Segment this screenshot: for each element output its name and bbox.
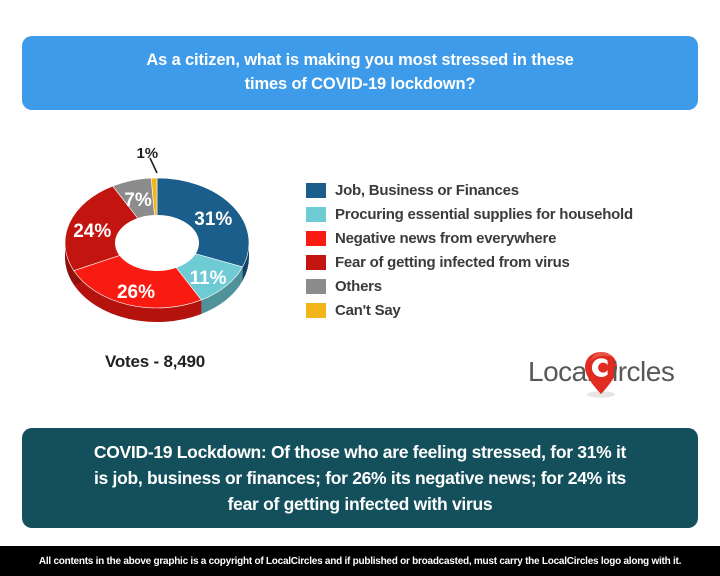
votes-total-label: Votes - 8,490 <box>30 352 280 372</box>
legend-label: Others <box>335 278 382 295</box>
legend-label: Job, Business or Finances <box>335 182 519 199</box>
pie-slice-value-label: 24% <box>73 221 111 242</box>
summary-line-2: is job, business or finances; for 26% it… <box>94 468 626 488</box>
legend-swatch-icon <box>306 207 326 222</box>
copyright-footer: All contents in the above graphic is a c… <box>0 546 720 576</box>
localcircles-logo: Local ircles <box>528 352 700 400</box>
pie-chart: 31%11%26%24%7%1% <box>30 140 290 340</box>
legend-row: Can't Say <box>306 298 633 322</box>
legend-swatch-icon <box>306 303 326 318</box>
question-text: As a citizen, what is making you most st… <box>146 49 573 97</box>
summary-banner: COVID-19 Lockdown: Of those who are feel… <box>22 428 698 528</box>
legend-row: Negative news from everywhere <box>306 226 633 250</box>
legend-label: Fear of getting infected from virus <box>335 254 570 271</box>
legend-swatch-icon <box>306 279 326 294</box>
pie-slice-value-label: 26% <box>117 282 155 303</box>
chart-legend: Job, Business or FinancesProcuring essen… <box>306 178 633 322</box>
legend-row: Job, Business or Finances <box>306 178 633 202</box>
pie-slice-value-label: 31% <box>194 209 232 230</box>
legend-swatch-icon <box>306 183 326 198</box>
summary-line-3: fear of getting infected with virus <box>228 494 493 514</box>
legend-label: Negative news from everywhere <box>335 230 556 247</box>
legend-swatch-icon <box>306 255 326 270</box>
legend-label: Can't Say <box>335 302 401 319</box>
legend-label: Procuring essential supplies for househo… <box>335 206 633 223</box>
copyright-text: All contents in the above graphic is a c… <box>39 556 681 567</box>
donut-hole <box>115 215 199 271</box>
pie-slice-value-label: 11% <box>190 268 227 289</box>
question-line-2: times of COVID-19 lockdown? <box>245 75 476 93</box>
pie-chart-svg: 31%11%26%24%7%1% <box>30 140 290 340</box>
summary-line-1: COVID-19 Lockdown: Of those who are feel… <box>94 442 626 462</box>
logo-text-right: ircles <box>612 356 674 388</box>
question-banner: As a citizen, what is making you most st… <box>22 36 698 110</box>
legend-row: Procuring essential supplies for househo… <box>306 202 633 226</box>
summary-text: COVID-19 Lockdown: Of those who are feel… <box>94 439 626 518</box>
question-line-1: As a citizen, what is making you most st… <box>146 51 573 69</box>
pie-slice-value-label: 7% <box>124 190 152 211</box>
legend-row: Others <box>306 274 633 298</box>
pie-slice-value-label: 1% <box>136 145 158 162</box>
legend-swatch-icon <box>306 231 326 246</box>
legend-row: Fear of getting infected from virus <box>306 250 633 274</box>
